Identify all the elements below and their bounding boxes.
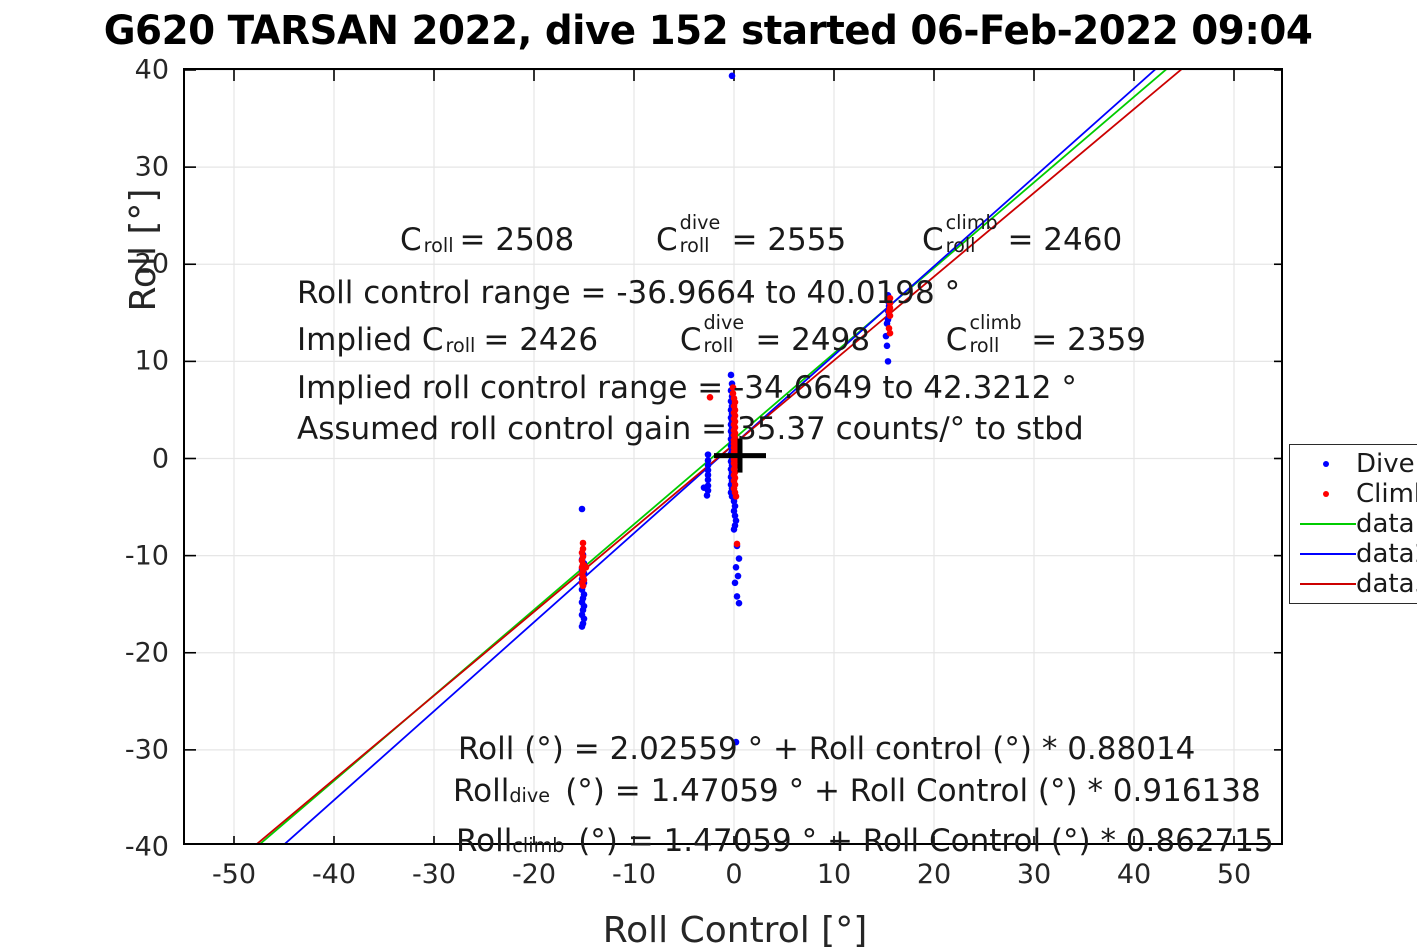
roll-climb-symbol: Rollclimb xyxy=(456,823,512,859)
legend-marker-line-icon xyxy=(1296,539,1356,569)
annotation-roll-control-range: Roll control range = -36.9664 to 40.0198… xyxy=(297,278,960,309)
y-tick-label: -40 xyxy=(49,832,169,863)
roll-dive-equation-text: (°) = 1.47059 ° + Roll Control (°) * 0.9… xyxy=(565,773,1261,809)
c-climb-value: = 2460 xyxy=(1007,222,1122,258)
c-roll-subscript: roll xyxy=(424,236,454,255)
chart-legend[interactable]: DiveClimbdata1data2data3 xyxy=(1289,444,1417,604)
plot-inner xyxy=(185,70,1281,843)
c-dive-base: C xyxy=(656,222,678,258)
c-roll-value: = 2508 xyxy=(460,222,575,258)
c-dive-superscript: dive xyxy=(680,213,721,232)
implied-c-roll-symbol: Implied Croll xyxy=(297,325,446,356)
y-tick-label: 0 xyxy=(49,443,169,474)
figure-root: G620 TARSAN 2022, dive 152 started 06-Fe… xyxy=(0,0,1417,945)
legend-label: data2 xyxy=(1356,539,1417,569)
legend-item-data3[interactable]: data3 xyxy=(1290,569,1417,599)
implied-c-dive-value: = 2498 xyxy=(755,322,870,358)
y-tick-label: 20 xyxy=(49,249,169,280)
annotation-c-roll-line: Croll = 2508 Crolldive = 2555 Crollclimb… xyxy=(400,225,1122,256)
figure-title: G620 TARSAN 2022, dive 152 started 06-Fe… xyxy=(0,0,1417,62)
equation-roll-dive: Rolldive (°) = 1.47059 ° + Roll Control … xyxy=(453,773,1261,809)
implied-c-climb-base: C xyxy=(946,322,968,358)
legend-label: Dive xyxy=(1356,449,1415,479)
x-tick-label: 50 xyxy=(1174,859,1294,890)
annotation-implied-roll-control-range: Implied roll control range = -34.6649 to… xyxy=(297,373,1077,404)
legend-item-data1[interactable]: data1 xyxy=(1290,509,1417,539)
equation-roll-climb: Rollclimb (°) = 1.47059 ° + Roll Control… xyxy=(456,823,1274,859)
implied-c-climb-symbol: Crollclimb xyxy=(946,325,970,356)
c-roll-symbol: Croll xyxy=(400,225,424,256)
legend-swatch xyxy=(1323,461,1329,467)
implied-c-climb-superscript: climb xyxy=(969,313,1021,332)
annotation-assumed-gain: Assumed roll control gain = 35.37 counts… xyxy=(297,414,1084,445)
implied-c-climb-subscript: roll xyxy=(969,336,999,355)
legend-label: Climb xyxy=(1356,479,1417,509)
plot-canvas xyxy=(185,70,1281,843)
roll-dive-base: Roll xyxy=(453,773,509,809)
legend-swatch xyxy=(1300,523,1356,525)
legend-item-data2[interactable]: data2 xyxy=(1290,539,1417,569)
implied-c-dive-base: C xyxy=(680,322,702,358)
y-tick-label: -30 xyxy=(49,734,169,765)
c-dive-subscript: roll xyxy=(680,236,710,255)
legend-swatch xyxy=(1323,491,1329,497)
c-dive-value: = 2555 xyxy=(731,222,846,258)
implied-c-roll-value: = 2426 xyxy=(483,322,598,358)
implied-c-roll-base: Implied C xyxy=(297,322,444,358)
legend-label: data1 xyxy=(1356,509,1417,539)
implied-c-dive-subscript: roll xyxy=(703,336,733,355)
roll-climb-subscript: climb xyxy=(512,834,564,857)
legend-swatch xyxy=(1300,583,1356,585)
implied-c-dive-symbol: Crolldive xyxy=(680,325,704,356)
roll-climb-base: Roll xyxy=(456,823,512,859)
c-climb-base: C xyxy=(922,222,944,258)
roll-climb-equation-text: (°) = 1.47059 ° + Roll Control (°) * 0.8… xyxy=(578,823,1274,859)
data-points xyxy=(579,73,894,746)
legend-marker-dot-icon xyxy=(1296,479,1356,509)
y-tick-label: -20 xyxy=(49,637,169,668)
implied-c-climb-value: = 2359 xyxy=(1031,322,1146,358)
legend-label: data3 xyxy=(1356,569,1417,599)
equation-roll-all: Roll (°) = 2.02559 ° + Roll control (°) … xyxy=(458,731,1195,767)
implied-c-dive-superscript: dive xyxy=(703,313,744,332)
plot-area: Croll = 2508 Crolldive = 2555 Crollclimb… xyxy=(183,68,1283,845)
c-climb-symbol: Crollclimb xyxy=(922,225,946,256)
legend-item-climb[interactable]: Climb xyxy=(1290,479,1417,509)
legend-item-dive[interactable]: Dive xyxy=(1290,449,1417,479)
c-climb-subscript: roll xyxy=(946,236,976,255)
y-tick-label: 10 xyxy=(49,346,169,377)
annotation-implied-c-roll-line: Implied Croll = 2426 Crolldive = 2498 Cr… xyxy=(297,325,1146,356)
legend-marker-dot-icon xyxy=(1296,449,1356,479)
c-dive-symbol: Crolldive xyxy=(656,225,680,256)
y-tick-label: 40 xyxy=(49,55,169,86)
roll-dive-subscript: dive xyxy=(509,784,550,807)
implied-c-roll-subscript: roll xyxy=(446,336,476,355)
figure-title-text: G620 TARSAN 2022, dive 152 started 06-Fe… xyxy=(104,8,1313,54)
c-roll-base: C xyxy=(400,222,422,258)
y-tick-label: -10 xyxy=(49,540,169,571)
legend-marker-line-icon xyxy=(1296,569,1356,599)
legend-marker-line-icon xyxy=(1296,509,1356,539)
legend-swatch xyxy=(1300,553,1356,555)
y-tick-label: 30 xyxy=(49,152,169,183)
roll-dive-symbol: Rolldive xyxy=(453,773,509,809)
c-climb-superscript: climb xyxy=(946,213,998,232)
